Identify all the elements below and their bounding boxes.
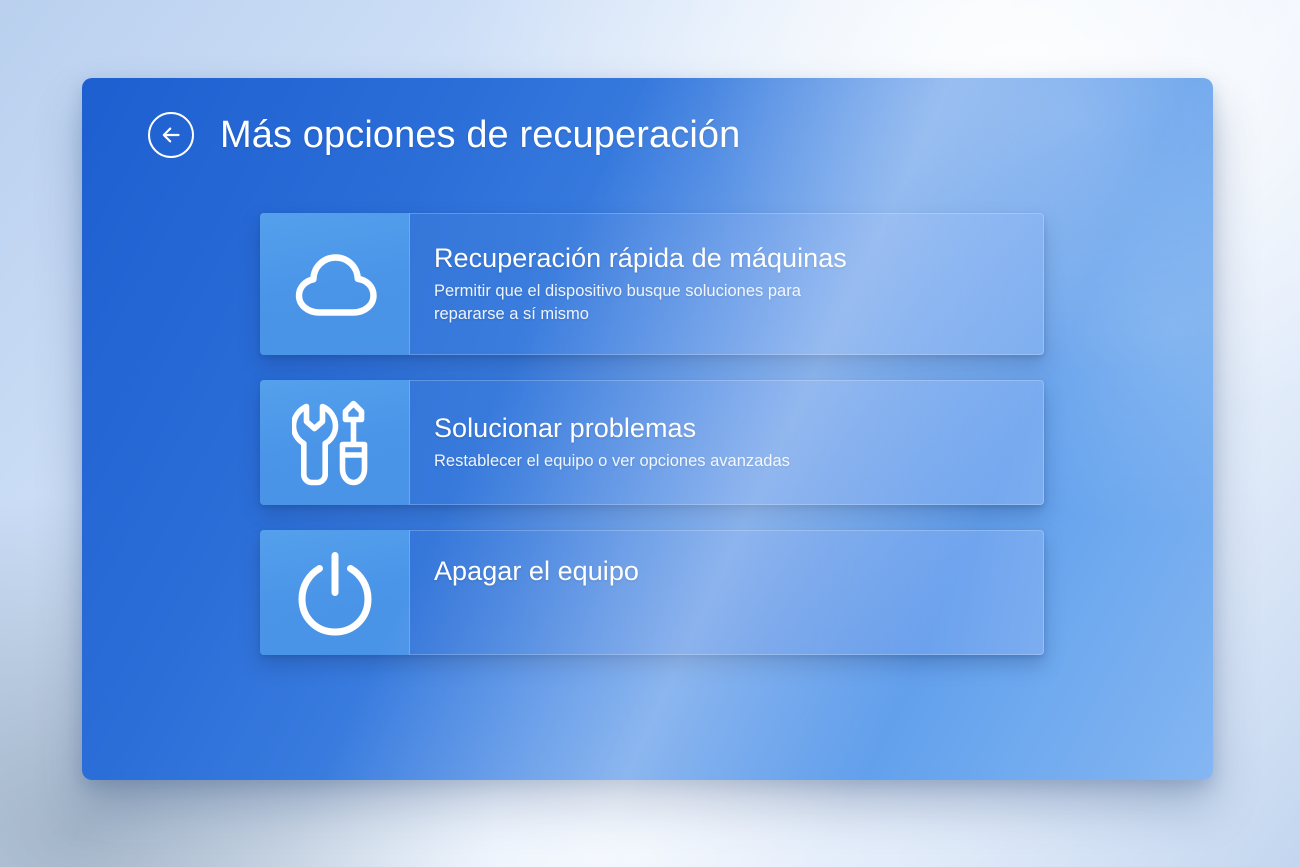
card-body: Solucionar problemas Restablecer el equi… [410, 380, 1044, 505]
card-title: Solucionar problemas [434, 413, 1022, 443]
card-icon-panel [260, 380, 410, 505]
card-title: Recuperación rápida de máquinas [434, 243, 1022, 273]
page-title: Más opciones de recuperación [220, 114, 740, 157]
back-arrow-icon [158, 122, 184, 148]
card-body: Apagar el equipo [410, 530, 1044, 655]
option-card-shut-down[interactable]: Apagar el equipo [260, 530, 1044, 655]
back-button[interactable] [148, 112, 194, 158]
desktop-background: Más opciones de recuperación Recuperació… [0, 0, 1300, 867]
wrench-screwdriver-icon [292, 399, 378, 487]
recovery-options-panel: Más opciones de recuperación Recuperació… [82, 78, 1213, 780]
card-title: Apagar el equipo [434, 556, 1022, 586]
card-subtitle: Restablecer el equipo o ver opciones ava… [434, 450, 864, 472]
option-card-troubleshoot[interactable]: Solucionar problemas Restablecer el equi… [260, 380, 1044, 505]
card-icon-panel [260, 530, 410, 655]
card-body: Recuperación rápida de máquinas Permitir… [410, 213, 1044, 355]
panel-header: Más opciones de recuperación [148, 112, 740, 158]
card-icon-panel [260, 213, 410, 355]
options-list: Recuperación rápida de máquinas Permitir… [260, 213, 1044, 655]
card-subtitle: Permitir que el dispositivo busque soluc… [434, 280, 864, 325]
option-card-quick-machine-recovery[interactable]: Recuperación rápida de máquinas Permitir… [260, 213, 1044, 355]
cloud-icon [288, 248, 382, 320]
power-icon [294, 550, 376, 636]
